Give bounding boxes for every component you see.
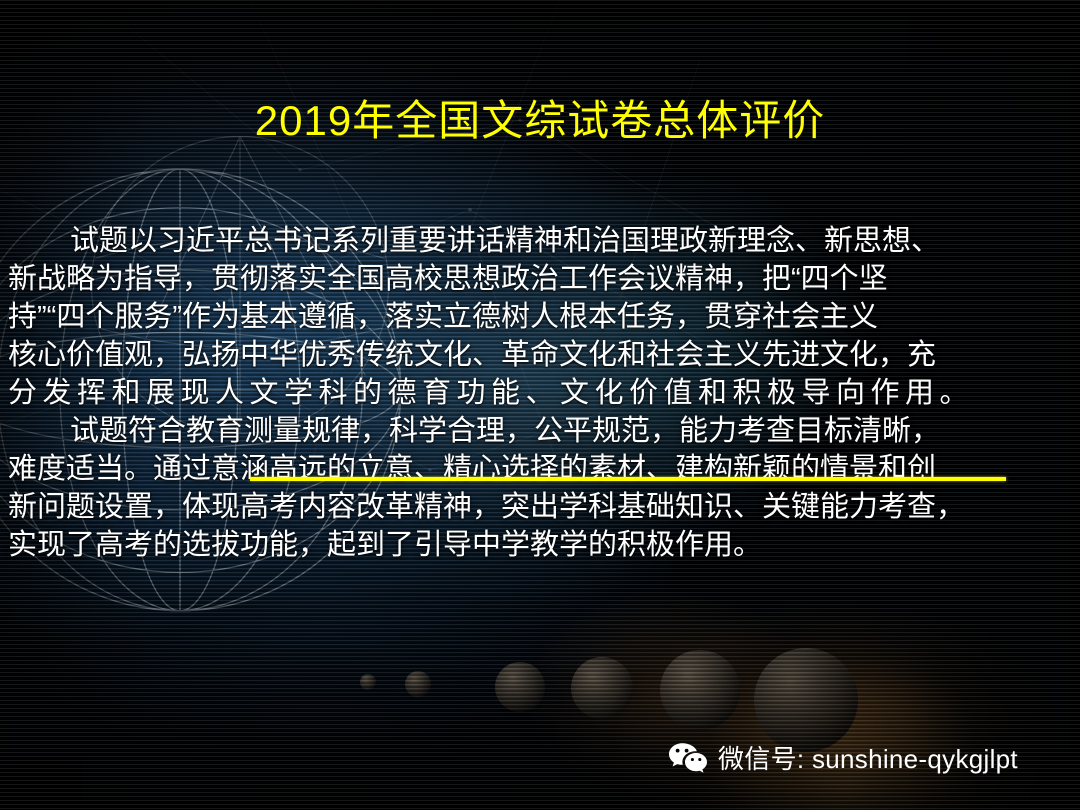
body-paragraph-line: 试题符合教育测量规律，科学合理，公平规范，能力考查目标清晰， [8, 412, 1072, 450]
body-paragraph-line: 实现了高考的选拔功能，起到了引导中学教学的积极作用。 [8, 526, 1072, 564]
body-paragraph-line: 新问题设置，体现高考内容改革精神，突出学科基础知识、关键能力考查， [8, 488, 1072, 526]
wechat-watermark: 微信号: sunshine-qykgjlpt [668, 742, 1018, 776]
slide-content: 2019年全国文综试卷总体评价 试题以习近平总书记系列重要讲话精神和治国理政新理… [0, 0, 1080, 810]
body-paragraph-line: 核心价值观，弘扬中华优秀传统文化、革命文化和社会主义先进文化，充 [8, 336, 1072, 374]
body-paragraph-line: 难度适当。通过意涵高远的立意、精心选择的素材、建构新颖的情景和创 [8, 450, 1072, 488]
wechat-id-label: 微信号: sunshine-qykgjlpt [718, 744, 1018, 774]
body-paragraph-line: 持”“四个服务”作为基本遵循，落实立德树人根本任务，贯穿社会主义 [8, 298, 1072, 336]
slide-canvas: 2019年全国文综试卷总体评价 试题以习近平总书记系列重要讲话精神和治国理政新理… [0, 0, 1080, 810]
slide-title: 2019年全国文综试卷总体评价 [0, 98, 1080, 144]
body-paragraph-line: 新战略为指导，贯彻落实全国高校思想政治工作会议精神，把“四个坚 [8, 260, 1072, 298]
wechat-icon [668, 742, 708, 776]
body-paragraph-line: 分发挥和展现人文学科的德育功能、文化价值和积极导向作用。 [8, 374, 1072, 412]
body-text-block: 试题以习近平总书记系列重要讲话精神和治国理政新理念、新思想、 新战略为指导，贯彻… [8, 222, 1072, 564]
yellow-highlight-underline [250, 477, 1006, 481]
body-paragraph-line: 试题以习近平总书记系列重要讲话精神和治国理政新理念、新思想、 [8, 222, 1072, 260]
